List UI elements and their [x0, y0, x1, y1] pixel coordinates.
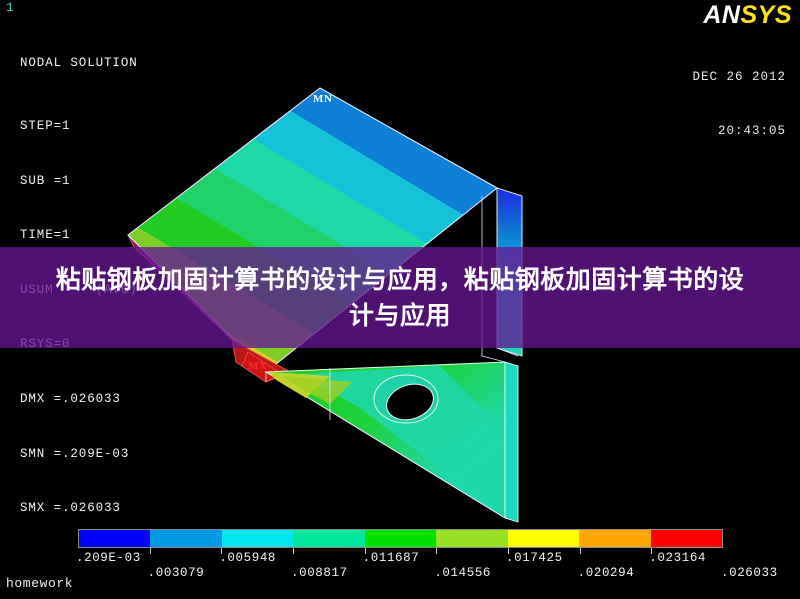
overlay-title-text: 粘贴钢板加固计算书的设计与应用，粘贴钢板加固计算书的设计与应用 [50, 262, 750, 334]
legend-row-smn: SMN =.209E-03 [20, 445, 138, 463]
ansys-logo: ANSYS [703, 2, 792, 28]
colorbar-band-6 [508, 530, 579, 547]
colorbar-band-2 [222, 530, 293, 547]
colorbar-label-2: .005948 [219, 551, 276, 565]
colorbar-band-7 [579, 530, 650, 547]
timestamp-time: 20:43:05 [692, 122, 786, 140]
colorbar-band-4 [365, 530, 436, 547]
timestamp-date: DEC 26 2012 [692, 68, 786, 86]
colorbar-label-0: .209E-03 [76, 551, 141, 565]
contour-colorbar [78, 529, 723, 548]
ansys-logo-an: AN [703, 1, 740, 29]
legend-row-sub: SUB =1 [20, 172, 138, 190]
colorbar-label-4: .011687 [363, 551, 420, 565]
legend-row-step: STEP=1 [20, 117, 138, 135]
colorbar-labels-upper-row: .209E-03.005948.011687.017425.023164 [0, 551, 800, 567]
colorbar-labels-lower-row: .003079.008817.014556.020294.026033 [0, 566, 800, 582]
timestamp-block: DEC 26 2012 20:43:05 [692, 32, 786, 176]
job-name-label: homework [6, 576, 73, 591]
colorbar-label-7: .020294 [578, 566, 635, 580]
web-right-thickness [505, 362, 518, 522]
legend-title: NODAL SOLUTION [20, 54, 138, 72]
colorbar-band-3 [293, 530, 364, 547]
colorbar-band-0 [79, 530, 150, 547]
colorbar-band-5 [436, 530, 507, 547]
colorbar-label-5: .014556 [434, 566, 491, 580]
colorbar-label-6: .017425 [506, 551, 563, 565]
ansys-logo-sys: SYS [740, 1, 792, 29]
legend-row-dmx: DMX =.026033 [20, 390, 138, 408]
legend-row-smx: SMX =.026033 [20, 499, 138, 517]
colorbar-label-9: .026033 [721, 566, 778, 580]
colorbar-band-8 [651, 530, 722, 547]
colorbar-label-1: .003079 [148, 566, 205, 580]
legend-row-time: TIME=1 [20, 226, 138, 244]
ansys-screenshot: MN MX 1 NODAL SOLUTION STEP=1 SUB =1 TIM… [0, 0, 800, 599]
colorbar-band-1 [150, 530, 221, 547]
window-number: 1 [6, 1, 14, 15]
title-overlay-banner: 粘贴钢板加固计算书的设计与应用，粘贴钢板加固计算书的设计与应用 [0, 247, 800, 348]
colorbar-label-3: .008817 [291, 566, 348, 580]
colorbar-label-8: .023164 [649, 551, 706, 565]
